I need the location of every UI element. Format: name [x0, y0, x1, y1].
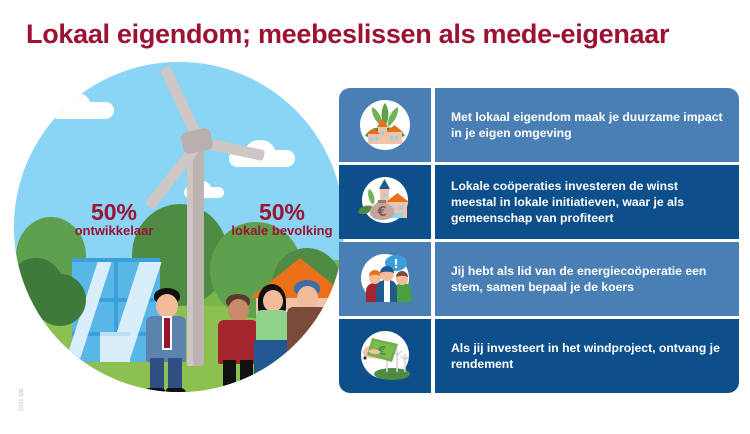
credit-text: 2021 MB — [19, 351, 25, 411]
panel-text: Jij hebt als lid van de energiecoöperati… — [451, 263, 725, 295]
benefit-panel-lokale-cooperaties[interactable]: € Lokale coöperaties investeren de winst… — [339, 165, 739, 239]
benefit-panel-lokaal-eigendom[interactable]: Met lokaal eigendom maak je duurzame imp… — [339, 88, 739, 162]
panel-text-cell: Lokale coöperaties investeren de winst m… — [435, 165, 739, 239]
page-title: Lokaal eigendom; meebeslissen als mede-e… — [26, 19, 726, 50]
person-figure — [140, 288, 194, 392]
panel-text: Als jij investeert in het windproject, o… — [451, 340, 725, 372]
benefit-panel-list: Met lokaal eigendom maak je duurzame imp… — [339, 88, 739, 393]
benefit-panel-energiecooperatie-stem[interactable]: ! Jij hebt als lid van de energiecoöpera… — [339, 242, 739, 316]
panel-text: Lokale coöperaties investeren de winst m… — [451, 178, 725, 226]
stat-number: 50% — [208, 200, 356, 224]
svg-text:€: € — [376, 205, 386, 220]
benefit-panel-rendement[interactable]: € Als jij investeert in het windproject,… — [339, 319, 739, 393]
panel-text: Met lokaal eigendom maak je duurzame imp… — [451, 109, 725, 141]
icon-cell — [339, 88, 431, 162]
person-figure — [282, 280, 334, 392]
stat-ontwikkelaar: 50% ontwikkelaar — [50, 200, 178, 239]
panel-text-cell: Als jij investeert in het windproject, o… — [435, 319, 739, 393]
infographic-canvas: Lokaal eigendom; meebeslissen als mede-e… — [0, 0, 750, 434]
svg-text:!: ! — [393, 257, 398, 271]
three-people-speech-bubble-icon: ! — [354, 248, 416, 310]
stat-number: 50% — [50, 200, 178, 224]
tree-icon — [34, 274, 86, 326]
money-bag-euro-house-icon: € — [354, 171, 416, 233]
icon-cell: € — [339, 319, 431, 393]
illustration-wind-community: 50% ontwikkelaar 50% lokale bevolking — [14, 62, 344, 392]
icon-cell: € — [339, 165, 431, 239]
hand-euro-banknote-turbines-icon: € — [354, 325, 416, 387]
panel-text-cell: Met lokaal eigendom maak je duurzame imp… — [435, 88, 739, 162]
stat-label: ontwikkelaar — [50, 224, 178, 239]
stat-label: lokale bevolking — [208, 224, 356, 239]
office-door — [100, 332, 130, 362]
cloud-icon — [50, 102, 114, 119]
village-leaves-icon — [354, 94, 416, 156]
stat-lokale-bevolking: 50% lokale bevolking — [208, 200, 356, 239]
icon-cell: ! — [339, 242, 431, 316]
panel-text-cell: Jij hebt als lid van de energiecoöperati… — [435, 242, 739, 316]
